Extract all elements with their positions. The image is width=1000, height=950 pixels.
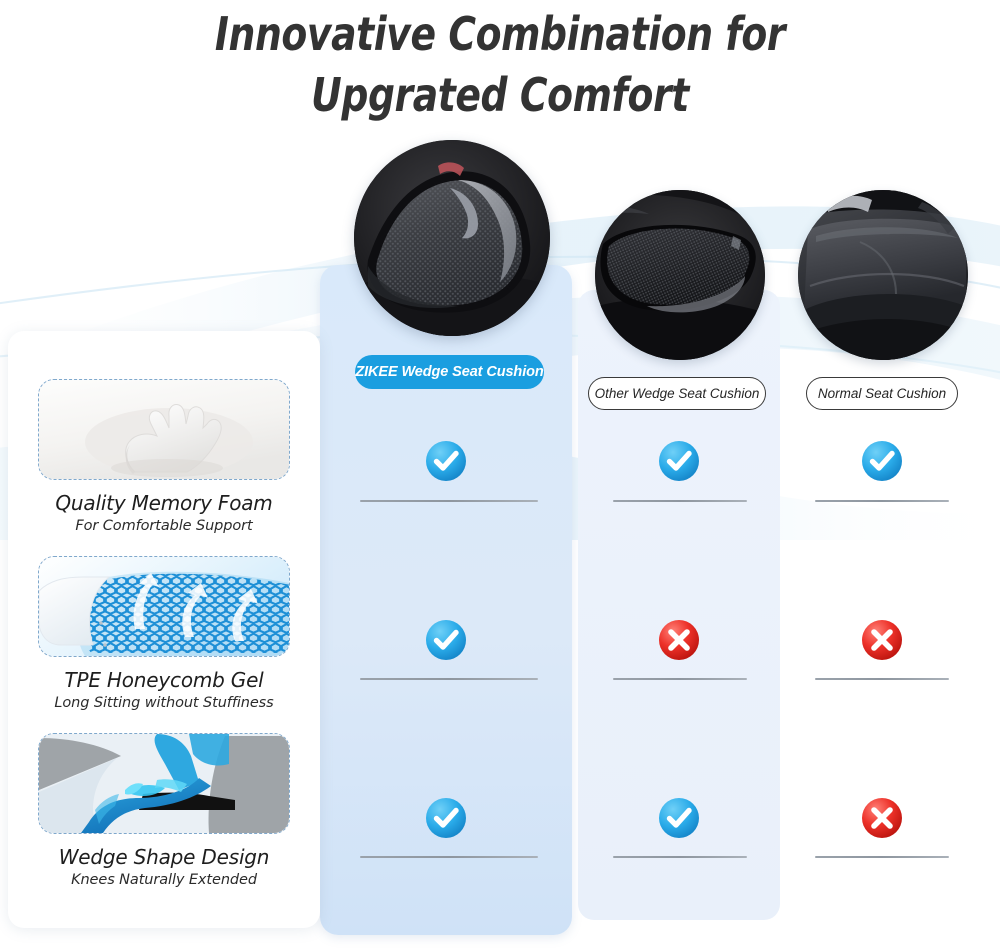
- column-label-text: ZIKEE Wedge Seat Cushion: [355, 364, 543, 380]
- check-circle-icon: [859, 438, 905, 484]
- feature-panel: Quality Memory Foam For Comfortable Supp…: [8, 331, 320, 928]
- feature-item: TPE Honeycomb Gel Long Sitting without S…: [8, 556, 320, 711]
- feature-subtitle: Long Sitting without Stuffiness: [8, 695, 320, 711]
- row-divider: [360, 678, 538, 680]
- check-circle-icon: [423, 438, 469, 484]
- feature-item: Quality Memory Foam For Comfortable Supp…: [8, 379, 320, 534]
- page-title: Innovative Combination for Upgrated Comf…: [90, 0, 910, 126]
- zikee-wedge-cushion-photo: [354, 140, 550, 336]
- cross-circle-icon: [656, 617, 702, 663]
- feature-subtitle: Knees Naturally Extended: [8, 872, 320, 888]
- row-divider: [815, 856, 949, 858]
- check-circle-icon: [656, 795, 702, 841]
- other-wedge-cushion-photo: [595, 190, 765, 360]
- column-label-text: Normal Seat Cushion: [818, 386, 946, 401]
- row-divider: [815, 678, 949, 680]
- column-label-other-wedge[interactable]: Other Wedge Seat Cushion: [588, 377, 766, 410]
- memory-foam-handprint-image: [38, 379, 290, 480]
- column-label-text: Other Wedge Seat Cushion: [595, 386, 760, 401]
- row-divider: [360, 856, 538, 858]
- feature-title: Wedge Shape Design: [8, 845, 320, 869]
- check-circle-icon: [423, 795, 469, 841]
- row-divider: [613, 678, 747, 680]
- check-circle-icon: [423, 617, 469, 663]
- column-label-normal[interactable]: Normal Seat Cushion: [806, 377, 958, 410]
- row-divider: [613, 856, 747, 858]
- cross-circle-icon: [859, 795, 905, 841]
- normal-seat-cushion-photo: [798, 190, 968, 360]
- check-circle-icon: [656, 438, 702, 484]
- feature-title: TPE Honeycomb Gel: [8, 668, 320, 692]
- feature-subtitle: For Comfortable Support: [8, 518, 320, 534]
- row-divider: [613, 500, 747, 502]
- row-divider: [815, 500, 949, 502]
- column-label-zikee[interactable]: ZIKEE Wedge Seat Cushion: [355, 355, 544, 389]
- tpe-honeycomb-gel-image: [38, 556, 290, 657]
- wedge-shape-knee-image: [38, 733, 290, 834]
- infographic-canvas: Innovative Combination for Upgrated Comf…: [0, 0, 1000, 950]
- feature-title: Quality Memory Foam: [8, 491, 320, 515]
- feature-item: Wedge Shape Design Knees Naturally Exten…: [8, 733, 320, 888]
- row-divider: [360, 500, 538, 502]
- cross-circle-icon: [859, 617, 905, 663]
